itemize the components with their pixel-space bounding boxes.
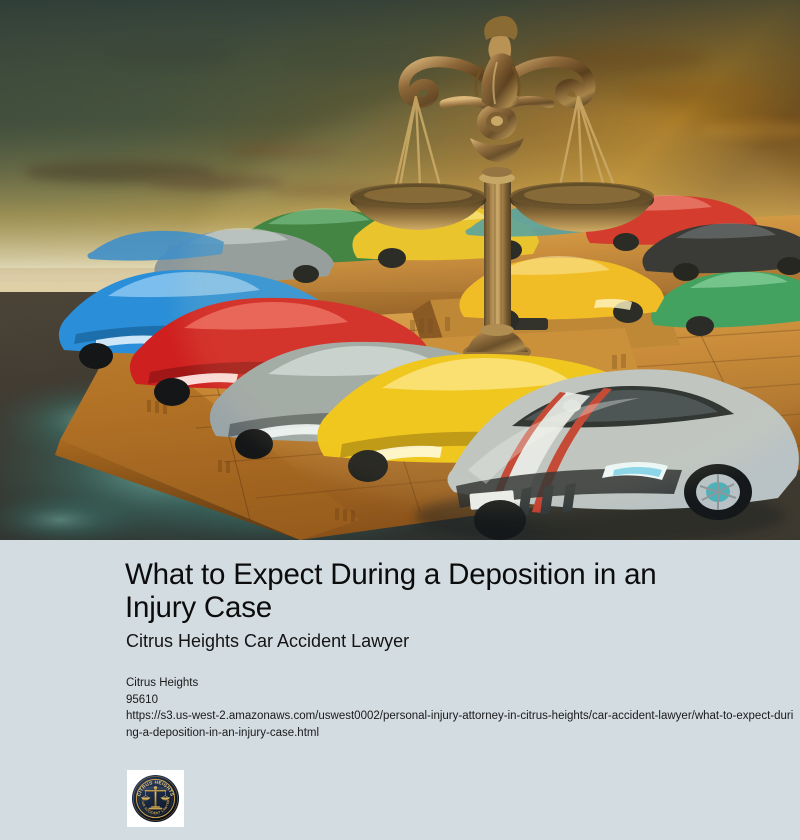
hero-image-cars-scales-of-justice: [0, 0, 800, 540]
meta-source-url[interactable]: https://s3.us-west-2.amazonaws.com/uswes…: [126, 708, 798, 741]
page-root: What to Expect During a Deposition in an…: [0, 0, 800, 840]
page-subtitle: Citrus Heights Car Accident Lawyer: [126, 630, 746, 652]
article-meta: Citrus Heights 95610 https://s3.us-west-…: [126, 675, 798, 741]
meta-zip: 95610: [126, 692, 798, 709]
citrus-heights-scales-badge-logo[interactable]: CITRUS HEIGHTS CAR ACCIDENT LAWYER: [127, 770, 184, 827]
hero-illustration: [0, 0, 800, 540]
page-title: What to Expect During a Deposition in an…: [125, 558, 735, 624]
badge-logo-icon: CITRUS HEIGHTS CAR ACCIDENT LAWYER: [131, 774, 180, 823]
meta-city: Citrus Heights: [126, 675, 798, 692]
